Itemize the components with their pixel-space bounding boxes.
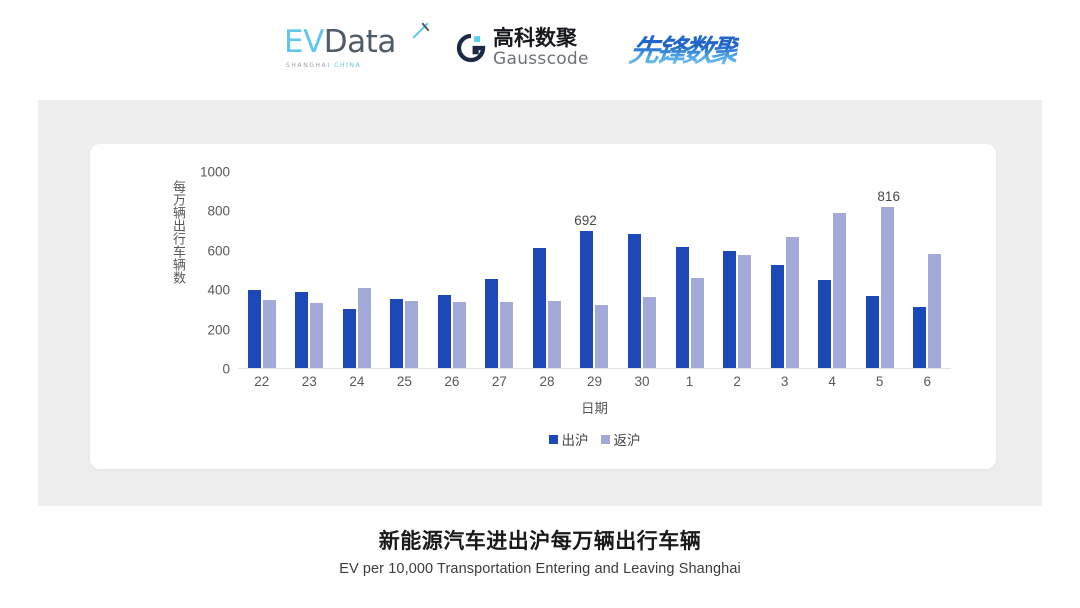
evdata-logo: EVData SHANGHAI CHINA <box>284 22 432 74</box>
bar-group <box>286 171 334 368</box>
x-tick-label: 3 <box>761 374 809 389</box>
bar-出沪-24[interactable] <box>343 309 356 368</box>
bar-value-label: 816 <box>877 189 900 204</box>
bar-group <box>903 171 951 368</box>
bar-出沪-27[interactable] <box>485 279 498 368</box>
evdata-tagline-shanghai: SHANGHAI <box>286 62 331 69</box>
bar-group <box>333 171 381 368</box>
evdata-data-text: Data <box>324 24 396 60</box>
gausscode-en-name: Gausscode <box>493 51 589 68</box>
bar-group <box>713 171 761 368</box>
bar-出沪-1[interactable] <box>676 247 689 368</box>
plot-area: 692816 <box>238 172 951 369</box>
bar-返沪-29[interactable] <box>595 305 608 368</box>
caption-block: 新能源汽车进出沪每万辆出行车辆 EV per 10,000 Transporta… <box>0 528 1080 577</box>
x-axis-title: 日期 <box>238 397 951 417</box>
x-tick-label: 24 <box>333 374 381 389</box>
legend-item-出沪[interactable]: 出沪 <box>549 429 589 449</box>
x-tick-label: 4 <box>808 374 856 389</box>
bar-返沪-4[interactable] <box>833 213 846 367</box>
evdata-ev-text: EV <box>284 24 324 60</box>
bar-返沪-22[interactable] <box>263 300 276 368</box>
bar-出沪-28[interactable] <box>533 248 546 368</box>
gausscode-cn-name: 高科数聚 <box>493 28 589 49</box>
bar-返沪-30[interactable] <box>643 297 656 367</box>
legend-item-返沪[interactable]: 返沪 <box>601 429 641 449</box>
bar-group <box>761 171 809 368</box>
evdata-wordmark: EVData <box>284 24 396 60</box>
bar-返沪-28[interactable] <box>548 301 561 368</box>
bar-返沪-26[interactable] <box>453 302 466 368</box>
chart-card: 每万辆出行车辆数 02004006008001000 692816 222324… <box>90 144 996 469</box>
bar-group <box>476 171 524 368</box>
bar-返沪-2[interactable] <box>738 255 751 367</box>
bar-group <box>523 171 571 368</box>
x-tick-label: 1 <box>666 374 714 389</box>
x-tick-label: 2 <box>713 374 761 389</box>
x-axis-baseline <box>238 368 951 370</box>
gausscode-text: 高科数聚 Gausscode <box>493 28 589 68</box>
bar-value-label: 692 <box>574 213 597 228</box>
logo-bar: EVData SHANGHAI CHINA 高科数聚 Gausscode 先锋数… <box>0 0 1080 96</box>
xianfeng-wordmark: 先锋数聚 <box>627 26 741 70</box>
bar-出沪-22[interactable] <box>248 290 261 368</box>
bar-出沪-6[interactable] <box>913 307 926 367</box>
x-tick-label: 6 <box>903 374 951 389</box>
bar-group <box>618 171 666 368</box>
evdata-tagline-china: CHINA <box>334 62 361 69</box>
x-tick-label: 27 <box>476 374 524 389</box>
bar-出沪-26[interactable] <box>438 295 451 367</box>
x-tick-label: 22 <box>238 374 286 389</box>
bar-返沪-27[interactable] <box>500 302 513 368</box>
bar-出沪-29[interactable] <box>580 231 593 367</box>
y-tick-label: 600 <box>207 243 230 258</box>
bar-返沪-3[interactable] <box>786 237 799 367</box>
x-tick-label: 5 <box>856 374 904 389</box>
bar-出沪-4[interactable] <box>818 280 831 367</box>
g-circle-icon <box>456 33 486 63</box>
xianfeng-shuju-logo: 先锋数聚 <box>630 26 796 70</box>
legend-label: 返沪 <box>614 429 641 449</box>
x-tick-label: 30 <box>618 374 666 389</box>
bar-group <box>381 171 429 368</box>
bar-返沪-25[interactable] <box>405 301 418 368</box>
legend-swatch-icon <box>601 435 610 444</box>
caption-english: EV per 10,000 Transportation Entering an… <box>0 561 1080 577</box>
x-tick-label: 25 <box>381 374 429 389</box>
caption-chinese: 新能源汽车进出沪每万辆出行车辆 <box>0 528 1080 554</box>
y-axis-ticks: 02004006008001000 <box>190 172 230 369</box>
y-tick-label: 0 <box>222 362 230 377</box>
gausscode-logo: 高科数聚 Gausscode <box>456 23 606 73</box>
y-tick-label: 200 <box>207 322 230 337</box>
bar-返沪-5[interactable] <box>881 207 894 368</box>
bar-出沪-3[interactable] <box>771 265 784 367</box>
evdata-tagline: SHANGHAI CHINA <box>286 62 361 69</box>
bar-出沪-30[interactable] <box>628 234 641 368</box>
x-tick-label: 23 <box>286 374 334 389</box>
bar-返沪-24[interactable] <box>358 288 371 368</box>
bar-group <box>808 171 856 368</box>
bar-group: 816 <box>856 171 904 368</box>
x-tick-label: 29 <box>571 374 619 389</box>
bar-返沪-1[interactable] <box>691 278 704 368</box>
y-tick-label: 1000 <box>200 165 230 180</box>
bar-出沪-25[interactable] <box>390 299 403 367</box>
bar-group: 692 <box>571 171 619 368</box>
x-tick-label: 26 <box>428 374 476 389</box>
chart-legend: 出沪返沪 <box>238 429 951 449</box>
bar-返沪-23[interactable] <box>310 303 323 367</box>
bar-出沪-2[interactable] <box>723 251 736 368</box>
bar-出沪-23[interactable] <box>295 292 308 368</box>
bar-group <box>666 171 714 368</box>
bar-group <box>238 171 286 368</box>
x-spark-icon <box>412 22 430 40</box>
bar-出沪-5[interactable] <box>866 296 879 367</box>
bar-返沪-6[interactable] <box>928 254 941 368</box>
legend-swatch-icon <box>549 435 558 444</box>
y-tick-label: 400 <box>207 283 230 298</box>
x-axis-ticks: 222324252627282930123456 <box>238 374 951 389</box>
bar-group <box>428 171 476 368</box>
legend-label: 出沪 <box>562 429 589 449</box>
bar-groups: 692816 <box>238 171 951 368</box>
y-axis-title: 每万辆出行车辆数 <box>166 180 184 284</box>
chart-plot-wrapper: 每万辆出行车辆数 02004006008001000 692816 222324… <box>90 144 996 469</box>
y-tick-label: 800 <box>207 204 230 219</box>
x-tick-label: 28 <box>523 374 571 389</box>
